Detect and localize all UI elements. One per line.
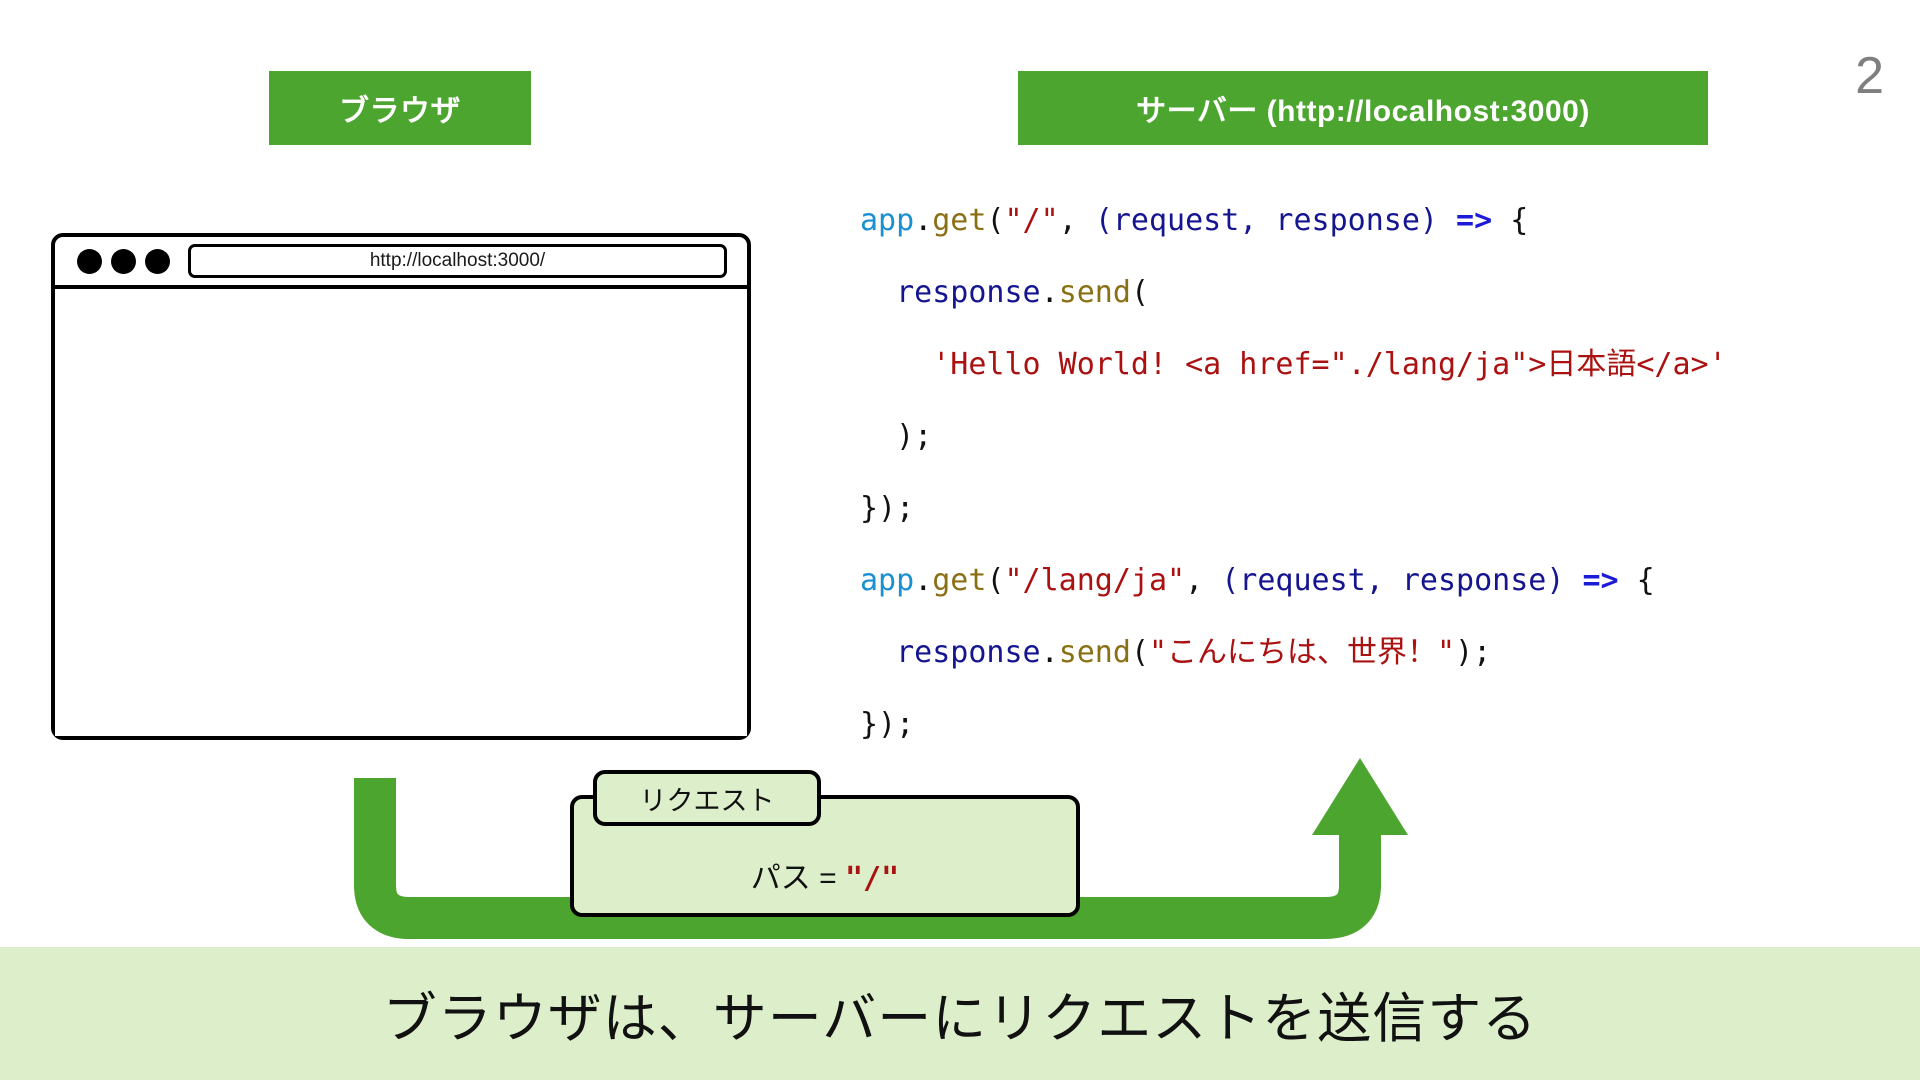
request-path-value: "/": [845, 861, 899, 896]
minimize-dot-icon[interactable]: [111, 249, 136, 274]
request-path-prefix: パス =: [751, 862, 845, 895]
code-token-fn: send: [1059, 275, 1131, 310]
code-token-plain: .: [914, 563, 932, 598]
browser-window-mock: http://localhost:3000/: [51, 233, 751, 740]
code-token-plain: .: [1041, 275, 1059, 310]
code-token-plain: });: [860, 491, 914, 526]
code-token-plain: [1564, 563, 1582, 598]
code-token-arrow: =>: [1582, 563, 1618, 598]
code-token-arrow: =>: [1456, 203, 1492, 238]
code-line: });: [860, 473, 1900, 545]
code-token-param: response: [896, 275, 1041, 310]
server-column-header: サーバー (http://localhost:3000): [1018, 71, 1708, 145]
code-indent: [860, 347, 932, 382]
code-token-param: (request, response): [1095, 203, 1438, 238]
code-token-fn: get: [932, 203, 986, 238]
code-indent: [860, 275, 896, 310]
code-line: 'Hello World! <a href="./lang/ja">日本語</a…: [860, 329, 1900, 401]
code-token-plain: {: [1619, 563, 1655, 598]
code-token-str: "/lang/ja": [1005, 563, 1186, 598]
code-token-plain: );: [1455, 635, 1491, 670]
slide-canvas: 2 ブラウザ サーバー (http://localhost:3000) http…: [0, 0, 1920, 1080]
code-token-plain: (: [1131, 275, 1149, 310]
code-token-str: "/": [1005, 203, 1059, 238]
code-token-plain: (: [986, 203, 1004, 238]
code-token-plain: );: [896, 419, 932, 454]
code-token-param: (request, response): [1221, 563, 1564, 598]
close-dot-icon[interactable]: [77, 249, 102, 274]
code-token-plain: [1438, 203, 1456, 238]
caption-band: ブラウザは、サーバーにリクエストを送信する: [0, 947, 1920, 1080]
code-token-str: 'Hello World! <a href="./lang/ja">日本語</a…: [932, 347, 1726, 382]
code-token-str: "こんにちは、世界！": [1149, 635, 1455, 670]
code-token-plain: {: [1492, 203, 1528, 238]
code-token-plain: .: [1041, 635, 1059, 670]
browser-viewport: [55, 289, 747, 736]
caption-text: ブラウザは、サーバーにリクエストを送信する: [383, 974, 1537, 1053]
window-control-dots: [77, 249, 170, 274]
code-line: );: [860, 401, 1900, 473]
code-token-plain: ,: [1185, 563, 1221, 598]
browser-chrome-bar: http://localhost:3000/: [55, 237, 747, 289]
code-token-plain: (: [986, 563, 1004, 598]
code-token-fn: get: [932, 563, 986, 598]
code-token-obj: app: [860, 563, 914, 598]
browser-column-header: ブラウザ: [269, 71, 531, 145]
code-line: app.get("/", (request, response) => {: [860, 185, 1900, 257]
server-code-block: app.get("/", (request, response) => { re…: [860, 185, 1900, 761]
code-token-obj: app: [860, 203, 914, 238]
code-token-fn: send: [1059, 635, 1131, 670]
code-indent: [860, 419, 896, 454]
code-token-plain: .: [914, 203, 932, 238]
request-path-line: パス = "/": [751, 853, 899, 897]
address-bar[interactable]: http://localhost:3000/: [188, 244, 727, 278]
code-token-plain: ,: [1059, 203, 1095, 238]
page-number: 2: [1855, 50, 1884, 102]
code-line: app.get("/lang/ja", (request, response) …: [860, 545, 1900, 617]
request-tab-label: リクエスト: [593, 770, 821, 826]
maximize-dot-icon[interactable]: [145, 249, 170, 274]
code-token-plain: (: [1131, 635, 1149, 670]
code-line: response.send(: [860, 257, 1900, 329]
code-line: response.send("こんにちは、世界！");: [860, 617, 1900, 689]
code-indent: [860, 635, 896, 670]
code-token-param: response: [896, 635, 1041, 670]
